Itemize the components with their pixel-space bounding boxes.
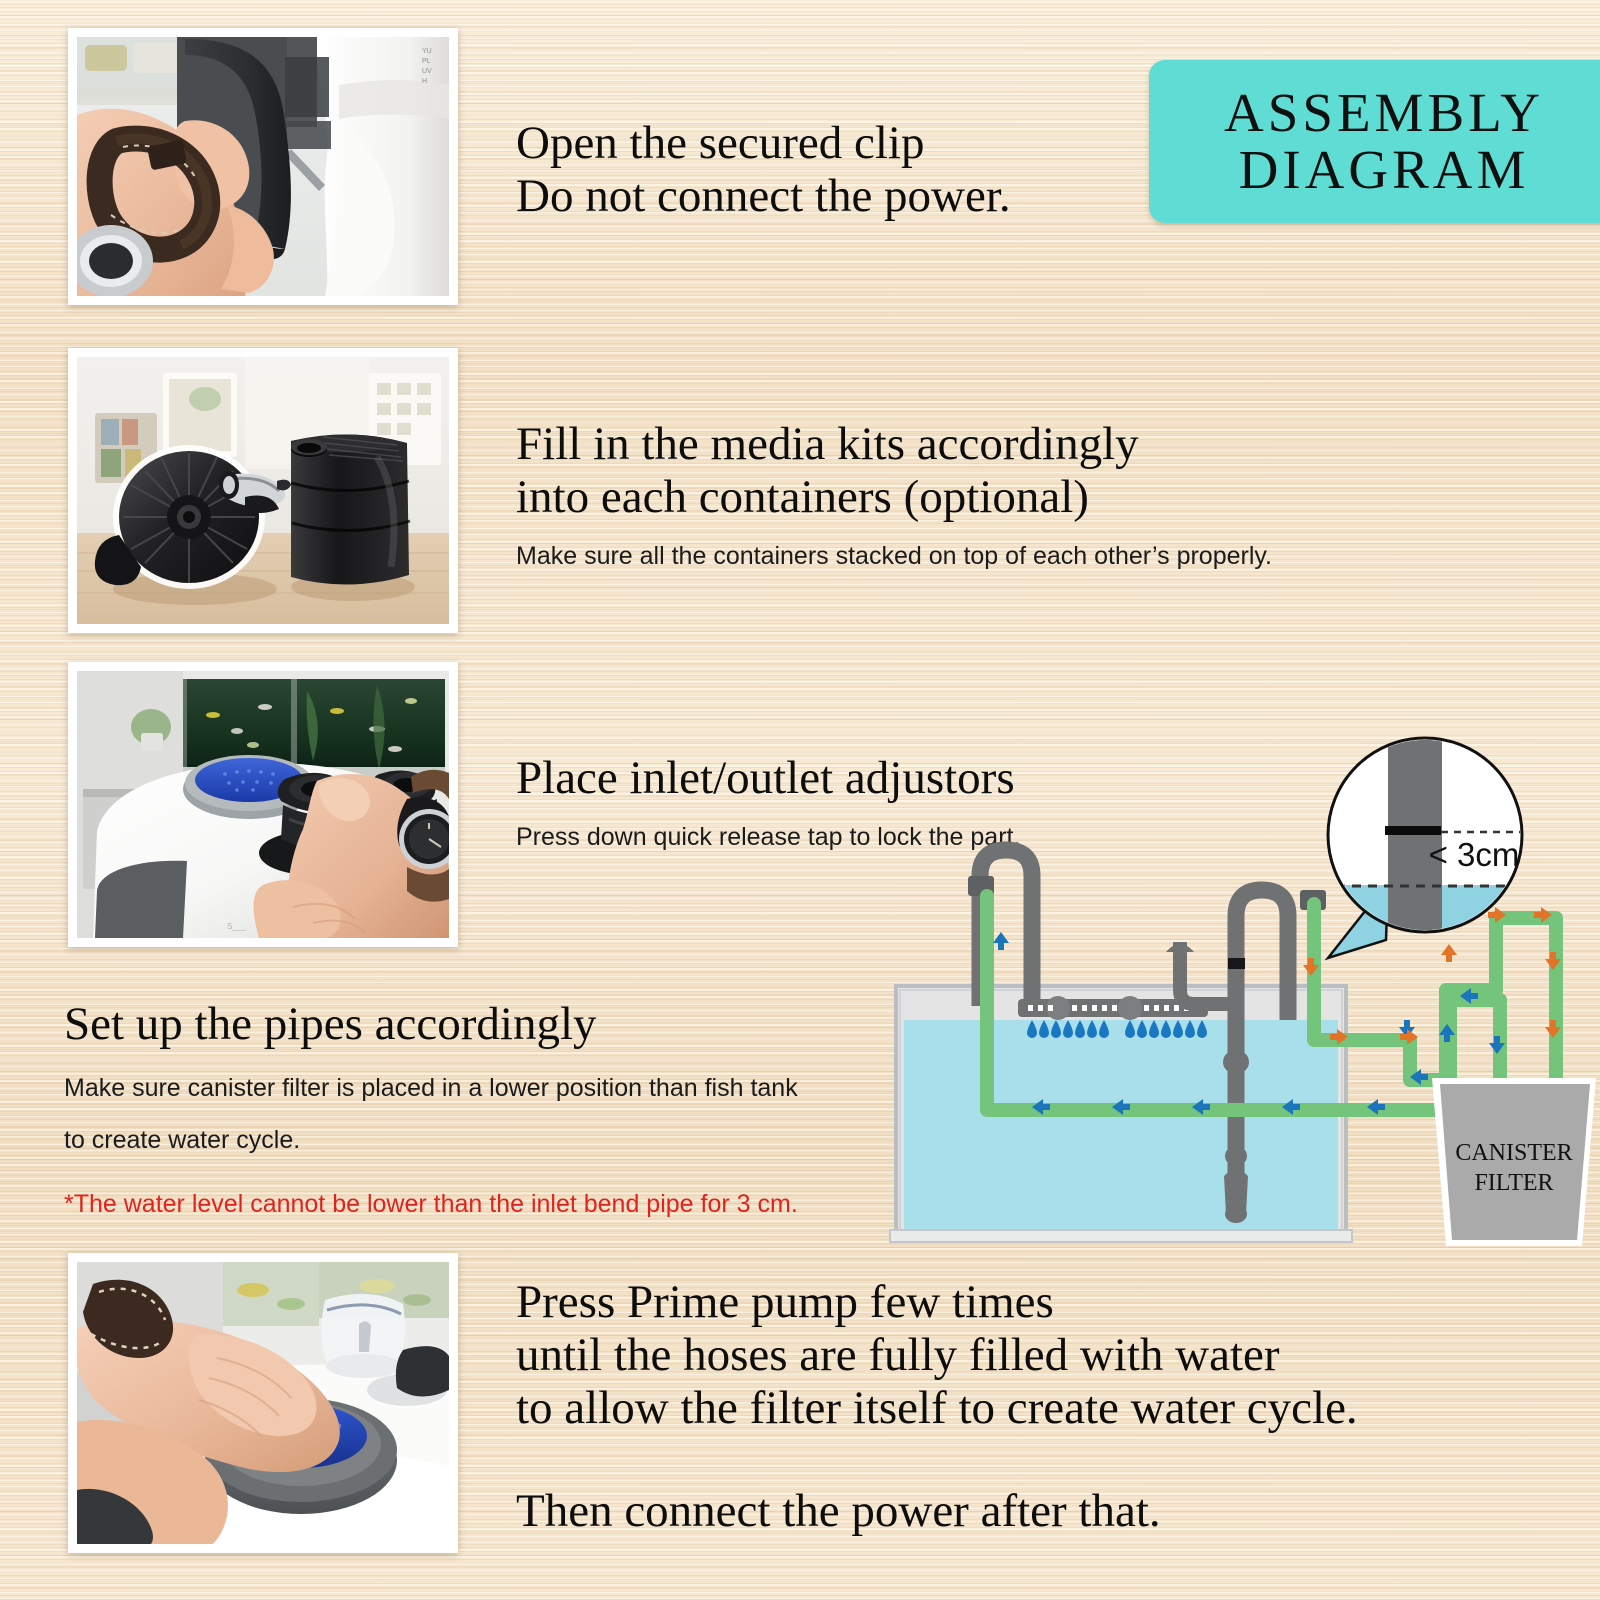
headline-fill-media-line-2: into each containers (optional)	[516, 471, 1272, 524]
photo-media-containers	[68, 348, 458, 633]
canister-filter-label-line-2: FILTER	[1474, 1170, 1553, 1196]
callout-label: < 3cm	[1429, 836, 1520, 873]
photo-open-clip: YU PL UV H	[68, 28, 458, 305]
title-line-2: DIAGRAM	[1239, 142, 1530, 199]
photo-open-clip-art: YU PL UV H	[77, 37, 449, 296]
headline-fill-media-line-1: Fill in the media kits accordingly	[516, 418, 1272, 471]
headline-prime-pump-line-2: until the hoses are fully filled with wa…	[516, 1329, 1358, 1382]
photo-prime-pump-art	[77, 1262, 449, 1544]
photo-media-containers-image	[77, 357, 449, 624]
photo-open-clip-image: YU PL UV H	[77, 37, 449, 296]
headline-prime-pump-line-1: Press Prime pump few times	[516, 1276, 1358, 1329]
svg-text:S___: S___	[227, 922, 246, 931]
svg-text:YU: YU	[422, 48, 432, 55]
photo-adjustors-art: S___	[77, 671, 449, 938]
subline-setup-pipes-line-1: Make sure canister filter is placed in a…	[64, 1069, 798, 1108]
aquarium-plumbing-diagram: CANISTER FILTER < 3cm	[880, 690, 1600, 1250]
headline-open-clip: Open the secured clip Do not connect the…	[516, 117, 1011, 223]
photo-prime-pump	[68, 1253, 458, 1553]
photo-media-containers-art	[77, 357, 449, 624]
canister-filter-label-line-1: CANISTER	[1455, 1140, 1572, 1166]
subline-fill-media: Make sure all the containers stacked on …	[516, 537, 1272, 576]
headline-open-clip-line-1: Open the secured clip	[516, 117, 1011, 170]
svg-text:H: H	[422, 78, 427, 85]
warning-water-level: *The water level cannot be lower than th…	[64, 1187, 798, 1222]
headline-connect-power: Then connect the power after that.	[516, 1485, 1358, 1538]
svg-text:PL: PL	[422, 58, 431, 65]
headline-setup-pipes-line-1: Set up the pipes accordingly	[64, 998, 798, 1051]
canister-filter: CANISTER FILTER	[1432, 1078, 1596, 1246]
headline-fill-media: Fill in the media kits accordingly into …	[516, 418, 1272, 576]
photo-inlet-outlet-adjustors: S___	[68, 662, 458, 947]
assembly-diagram-title-banner: ASSEMBLY DIAGRAM	[1149, 60, 1600, 223]
headline-open-clip-line-2: Do not connect the power.	[516, 170, 1011, 223]
photo-prime-pump-image	[77, 1262, 449, 1544]
headline-setup-pipes: Set up the pipes accordingly Make sure c…	[64, 998, 798, 1222]
headline-prime-pump: Press Prime pump few times until the hos…	[516, 1276, 1358, 1538]
headline-prime-pump-line-3: to allow the filter itself to create wat…	[516, 1382, 1358, 1435]
title-line-1: ASSEMBLY	[1224, 85, 1544, 142]
photo-inlet-outlet-adjustors-image: S___	[77, 671, 449, 938]
subline-setup-pipes-line-2: to create water cycle.	[64, 1121, 798, 1160]
svg-text:UV: UV	[422, 68, 432, 75]
